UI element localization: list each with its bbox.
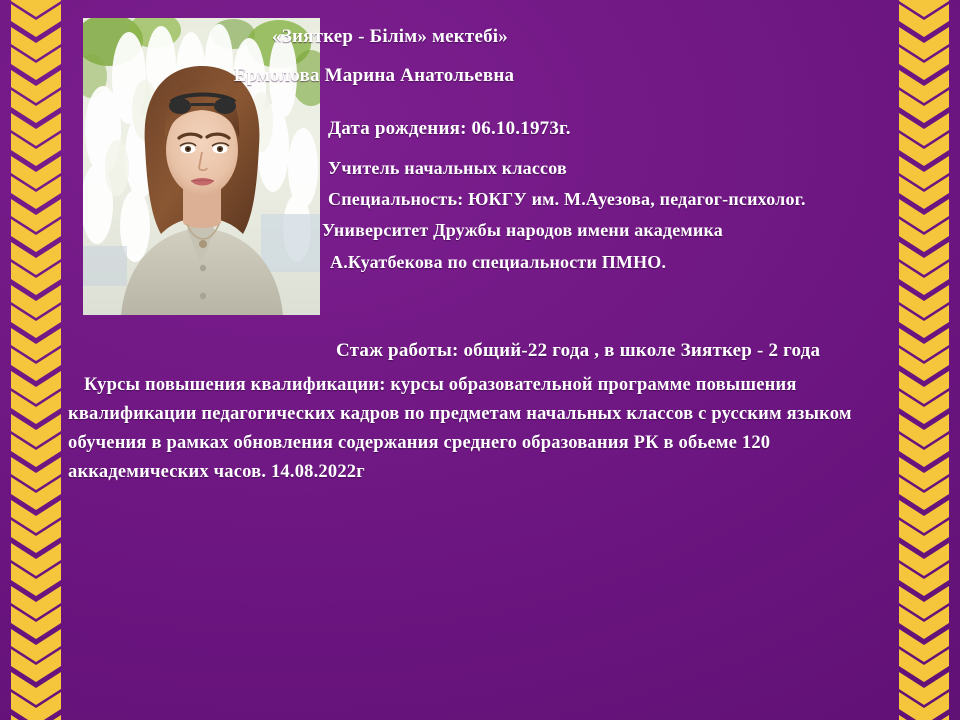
university-line-2: А.Куатбекова по специальности ПМНО.: [330, 252, 666, 273]
teacher-name: Ермолова Марина Анатольевна: [0, 65, 960, 87]
job-role: Учитель начальных классов: [328, 158, 567, 179]
qualification-courses: Курсы повышения квалификации: курсы обра…: [68, 371, 896, 487]
teacher-portrait-photo: [83, 18, 320, 315]
work-experience: Стаж работы: общий-22 года , в школе Зия…: [336, 340, 820, 362]
university-line-1: Университет Дружбы народов имени академи…: [322, 220, 723, 241]
school-title: «Зияткер - Білім» мектебі»: [0, 26, 960, 48]
presentation-slide: «Зияткер - Білім» мектебі» Ермолова Мари…: [0, 0, 960, 720]
specialty: Специальность: ЮКГУ им. М.Ауезова, педаг…: [328, 189, 806, 210]
birth-date: Дата рождения: 06.10.1973г.: [328, 118, 571, 140]
right-chevron-border: [899, 0, 949, 720]
left-chevron-border: [11, 0, 61, 720]
